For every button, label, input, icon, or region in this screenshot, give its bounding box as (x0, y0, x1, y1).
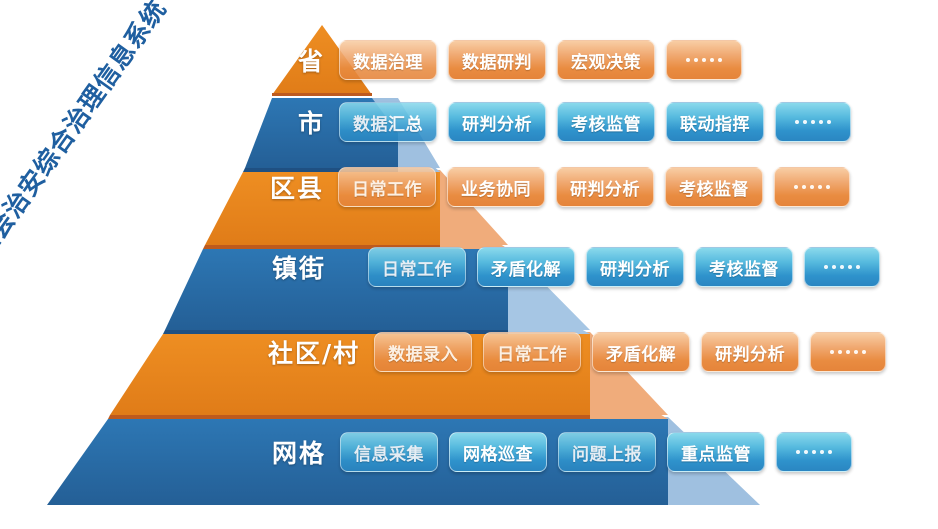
tier-2-item-4-label: 联动指挥 (680, 110, 750, 135)
tier-3-item-3-label: 研判分析 (570, 175, 640, 200)
tier-4-item-3-label: 研判分析 (600, 255, 670, 280)
tier-3-item-2[interactable]: 业务协同 (447, 167, 545, 207)
tier-4-item-3[interactable]: 研判分析 (586, 247, 684, 287)
tier-6-item-2-label: 网格巡查 (463, 440, 533, 465)
tier-5-item-4-label: 研判分析 (715, 340, 785, 365)
ellipsis-icon (830, 350, 866, 354)
tier-2-item-1-label: 数据汇总 (353, 110, 423, 135)
tier-6-item-3-label: 问题上报 (572, 440, 642, 465)
tier-label-3: 区县 (270, 169, 324, 205)
tier-1-item-3-label: 宏观决策 (571, 48, 641, 73)
tier-6-item-1[interactable]: 信息采集 (340, 432, 438, 472)
tier-5-item-2-label: 日常工作 (497, 340, 567, 365)
tier-6-item-4[interactable]: 重点监管 (667, 432, 765, 472)
tier-2-item-5-ellipsis[interactable] (775, 102, 851, 142)
ellipsis-icon (686, 58, 722, 62)
tier-3-item-3[interactable]: 研判分析 (556, 167, 654, 207)
tier-3-item-4-label: 考核监督 (679, 175, 749, 200)
tier-row-4: 镇街 日常工作 矛盾化解 研判分析 考核监督 (272, 245, 891, 289)
tier-3-item-1[interactable]: 日常工作 (338, 167, 436, 207)
tier-4-item-2[interactable]: 矛盾化解 (477, 247, 575, 287)
tier-6-item-1-label: 信息采集 (354, 440, 424, 465)
tier-6-item-4-label: 重点监管 (681, 440, 751, 465)
tier-4-item-1-label: 日常工作 (382, 255, 452, 280)
tier-label-6: 网格 (272, 434, 326, 470)
diagram-canvas: 社会治安综合治理信息系统（9+X） 省 数据治理 数据研判 宏观决策 市 数据汇… (0, 0, 938, 529)
tier-1-item-2-label: 数据研判 (462, 48, 532, 73)
ellipsis-icon (796, 450, 832, 454)
tier-label-1: 省 (298, 42, 325, 78)
tier-1-item-4-ellipsis[interactable] (666, 40, 742, 80)
tier-6-item-2[interactable]: 网格巡查 (449, 432, 547, 472)
ellipsis-icon (795, 120, 831, 124)
tier-2-item-4[interactable]: 联动指挥 (666, 102, 764, 142)
tier-2-item-3[interactable]: 考核监管 (557, 102, 655, 142)
tier-row-3: 区县 日常工作 业务协同 研判分析 考核监督 (270, 165, 861, 209)
tier-1-item-2[interactable]: 数据研判 (448, 40, 546, 80)
tier-1-item-1[interactable]: 数据治理 (339, 40, 437, 80)
tier-4-item-4-label: 考核监督 (709, 255, 779, 280)
tier-label-2: 市 (298, 104, 325, 140)
tier-5-item-2[interactable]: 日常工作 (483, 332, 581, 372)
ellipsis-icon (794, 185, 830, 189)
tier-row-2: 市 数据汇总 研判分析 考核监管 联动指挥 (298, 100, 862, 144)
tier-5-item-1-label: 数据录入 (388, 340, 458, 365)
tier-5-item-1[interactable]: 数据录入 (374, 332, 472, 372)
tier-2-item-2[interactable]: 研判分析 (448, 102, 546, 142)
tier-2-item-1[interactable]: 数据汇总 (339, 102, 437, 142)
tier-row-5: 社区/村 数据录入 日常工作 矛盾化解 研判分析 (268, 330, 897, 374)
tier-4-item-2-label: 矛盾化解 (491, 255, 561, 280)
tier-row-1: 省 数据治理 数据研判 宏观决策 (298, 38, 753, 82)
tier-5-item-5-ellipsis[interactable] (810, 332, 886, 372)
tier-1-item-1-label: 数据治理 (353, 48, 423, 73)
ellipsis-icon (824, 265, 860, 269)
tier-1-item-3[interactable]: 宏观决策 (557, 40, 655, 80)
tier-6-item-5-ellipsis[interactable] (776, 432, 852, 472)
tier-4-item-4[interactable]: 考核监督 (695, 247, 793, 287)
tier-3-item-4[interactable]: 考核监督 (665, 167, 763, 207)
tier-label-4: 镇街 (272, 249, 326, 285)
tier-2-item-2-label: 研判分析 (462, 110, 532, 135)
tier-2-item-3-label: 考核监管 (571, 110, 641, 135)
tier-5-item-3-label: 矛盾化解 (606, 340, 676, 365)
tier-5-item-4[interactable]: 研判分析 (701, 332, 799, 372)
tier-3-item-5-ellipsis[interactable] (774, 167, 850, 207)
tier-4-item-1[interactable]: 日常工作 (368, 247, 466, 287)
tier-5-item-3[interactable]: 矛盾化解 (592, 332, 690, 372)
tier-label-5: 社区/村 (268, 334, 360, 370)
tier-3-item-1-label: 日常工作 (352, 175, 422, 200)
tier-3-item-2-label: 业务协同 (461, 175, 531, 200)
tier-6-item-3[interactable]: 问题上报 (558, 432, 656, 472)
tier-row-6: 网格 信息采集 网格巡查 问题上报 重点监管 (272, 430, 863, 474)
tier-4-item-5-ellipsis[interactable] (804, 247, 880, 287)
